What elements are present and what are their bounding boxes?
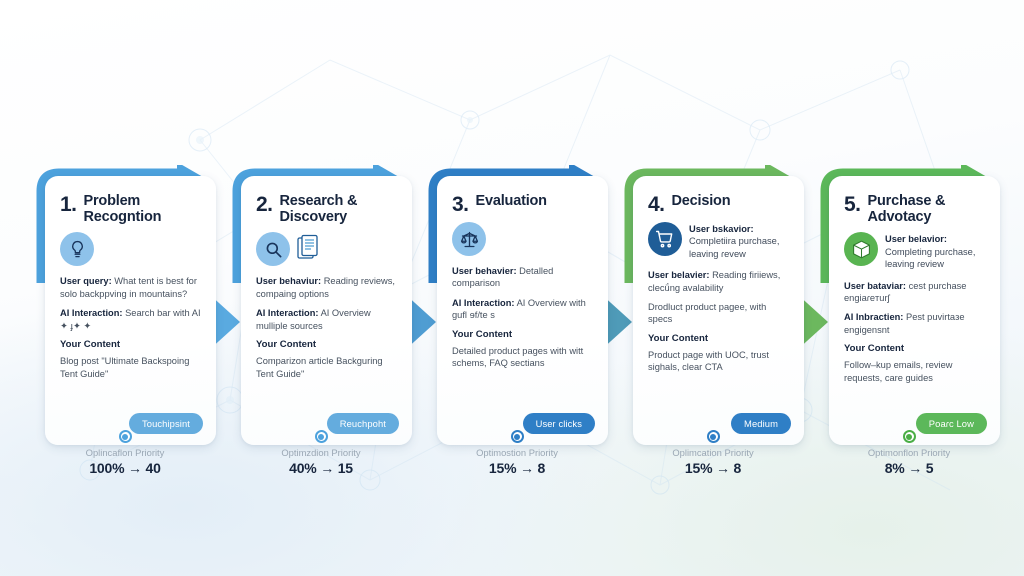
step-title: Problem Recogntion [84,193,201,225]
line-label: User behaviur: [256,276,321,286]
icon-row-1 [60,232,201,266]
content-text: Comparizon article Backguring Tent Guide… [256,355,397,380]
metric-label: Oplincaflon Priority [34,447,216,458]
card-header-5: 5. Purchase & Advotacy [844,193,985,225]
line-ai-interaction: AI Inbractien: Pest puvirtaᴈe engigensnt [844,311,985,336]
step-card-2[interactable]: 2. Research & Discovery [230,165,412,445]
line-label: AI Interaction: [256,308,319,318]
icon-row-2 [256,232,397,266]
line-user-behavior: User bataviar: ᴄest purchase engiaɾeᴛurʃ [844,280,985,305]
step-title: Decision [672,193,731,209]
step-number: 4. [648,193,665,215]
metric-value: 8% → 5 [818,460,1000,476]
line-user-behavior: User behavier: Detalled comparison [452,265,593,290]
metric-label: Optimostion Priority [426,447,608,458]
step-number: 2. [256,193,273,215]
line-label: User belavier: [648,270,710,280]
content-text: Blog post "Ultimate Backspoing Tent Guid… [60,355,201,380]
step-card-body-4: 4. Decision User bskavior: Completiira p… [633,176,804,445]
metric-value: 15% → 8 [426,460,608,476]
card-header-3: 3. Evaluation [452,193,593,215]
head-note-4: User bskavior: Completiira purchase, lea… [689,222,789,260]
content-text: Product page with UOC, trust sighals, cl… [648,349,789,374]
metric-value: 40% → 15 [230,460,412,476]
card-body-5: User bataviar: ᴄest purchase engiaɾeᴛurʃ… [844,280,985,385]
content-text: Follow–kup emails, review requests, care… [844,359,985,384]
card-header-2: 2. Research & Discovery [256,193,397,225]
content-label: Your Content [648,333,789,346]
line-extra: Drodluct product pagee, with specs [648,301,789,326]
line-label: AI Inbractien: [844,312,903,322]
line-user-behavior: User behaviur: Reading reviews, compaing… [256,275,397,300]
line-label: User bataviar: [844,281,906,291]
package-box-icon [844,232,878,266]
head-note-5: User belavior: Completing puɾchase, leav… [885,232,985,270]
card-body-4: User belavier: Reading firiiews, clecǘng… [648,269,789,374]
card-header-1: 1. Problem Recogntion [60,193,201,225]
step-card-3[interactable]: 3. Evaluation User behavier: Detalled co… [426,165,608,445]
content-text: Detailed product pages with witt schems,… [452,345,593,370]
step-title: Evaluation [476,193,547,209]
metric-dot-icon [315,430,328,443]
card-body-1: User query: What tent is best for solo b… [60,275,201,380]
step-card-body-2: 2. Research & Discovery [241,176,412,445]
metric-value: 100% → 40 [34,460,216,476]
metric-block-4: Oplimcation Priority 15% → 8 [622,430,804,476]
content-label: Your Content [60,339,201,352]
step-number: 3. [452,193,469,215]
head-note-text: Completiira purchase, leaving ɾevew [689,236,779,258]
step-title: Purchase & Advotacy [868,193,985,225]
icon-row-3 [452,222,593,256]
line-ai-interaction: AI Interaction: AI Overview mulliple sou… [256,307,397,332]
metric-dot-icon [707,430,720,443]
line-label: AI Interaction: [452,298,515,308]
icon-row-5: User belavior: Completing puɾchase, leav… [844,232,985,270]
metric-value: 15% → 8 [622,460,804,476]
metric-label: Oplimcation Priority [622,447,804,458]
step-card-body-5: 5. Purchase & Advotacy User belavior: Co… [829,176,1000,445]
metric-label: Optimonflon Priority [818,447,1000,458]
line-label: AI Interaction: [60,308,123,318]
documents-icon [297,234,323,264]
step-number: 5. [844,193,861,215]
card-body-2: User behaviur: Reading reviews, compaing… [256,275,397,380]
head-note-label: User belavior: [885,234,947,244]
step-card-5[interactable]: 5. Purchase & Advotacy User belavior: Co… [818,165,1000,445]
metric-dot-icon [511,430,524,443]
metric-dot-icon [119,430,132,443]
line-label: User behavier: [452,266,517,276]
shopping-cart-icon [648,222,682,256]
metric-block-5: Optimonflon Priority 8% → 5 [818,430,1000,476]
head-note-label: User bskavior: [689,224,754,234]
content-label: Your Content [844,343,985,356]
line-ai-interaction: AI Interaction: AI Overview with gufl ɘf… [452,297,593,322]
lightbulb-icon [60,232,94,266]
line-user-behavior: User belavier: Reading firiiews, clecǘng… [648,269,789,294]
magnifier-icon [256,232,290,266]
metric-block-2: Optimzdion Priority 40% → 15 [230,430,412,476]
scales-icon [452,222,486,256]
step-card-4[interactable]: 4. Decision User bskavior: Completiira p… [622,165,804,445]
card-header-4: 4. Decision [648,193,789,215]
line-ai-interaction: AI Interaction: Search bar with AI ✦ ɟ✦ … [60,307,201,332]
metric-dot-icon [903,430,916,443]
card-body-3: User behavier: Detalled comparison AI In… [452,265,593,370]
metric-label: Optimzdion Priority [230,447,412,458]
icon-row-4: User bskavior: Completiira purchase, lea… [648,222,789,260]
line-user-query: User query: What tent is best for solo b… [60,275,201,300]
line-label: User query: [60,276,112,286]
journey-flow-stage: 1. Problem Recogntion User query: What t… [0,0,1024,576]
step-card-1[interactable]: 1. Problem Recogntion User query: What t… [34,165,216,445]
content-label: Your Content [452,329,593,342]
step-card-body-3: 3. Evaluation User behavier: Detalled co… [437,176,608,445]
step-card-body-1: 1. Problem Recogntion User query: What t… [45,176,216,445]
content-label: Your Content [256,339,397,352]
metric-block-1: Oplincaflon Priority 100% → 40 [34,430,216,476]
step-number: 1. [60,193,77,215]
step-title: Research & Discovery [280,193,397,225]
head-note-text: Completing puɾchase, leaving ɾeview [885,247,975,269]
metric-block-3: Optimostion Priority 15% → 8 [426,430,608,476]
